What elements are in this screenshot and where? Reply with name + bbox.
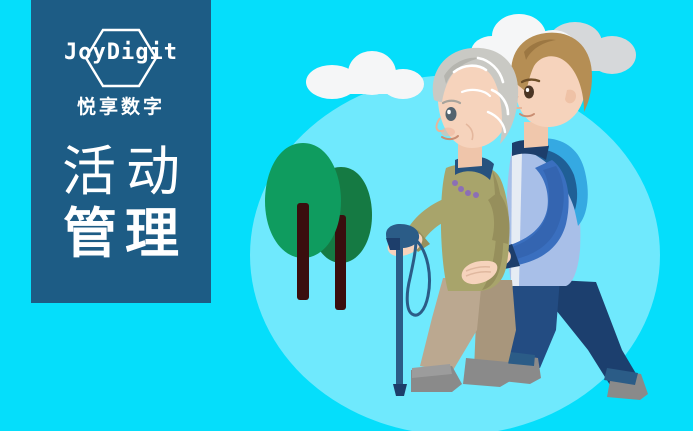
brand-chinese-name: 悦享数字: [77, 92, 165, 119]
page-title-line-2: 管理: [55, 203, 187, 265]
title-panel: JoyDigit 悦享数字 活动 管理: [31, 0, 211, 303]
brand-wordmark: JoyDigit: [46, 42, 196, 64]
page-title: 活动 管理: [52, 141, 190, 265]
poster-canvas: JoyDigit 悦享数字 活动 管理: [0, 0, 693, 431]
page-title-line-1: 活动: [52, 141, 190, 203]
brand-logo: JoyDigit: [46, 26, 196, 90]
